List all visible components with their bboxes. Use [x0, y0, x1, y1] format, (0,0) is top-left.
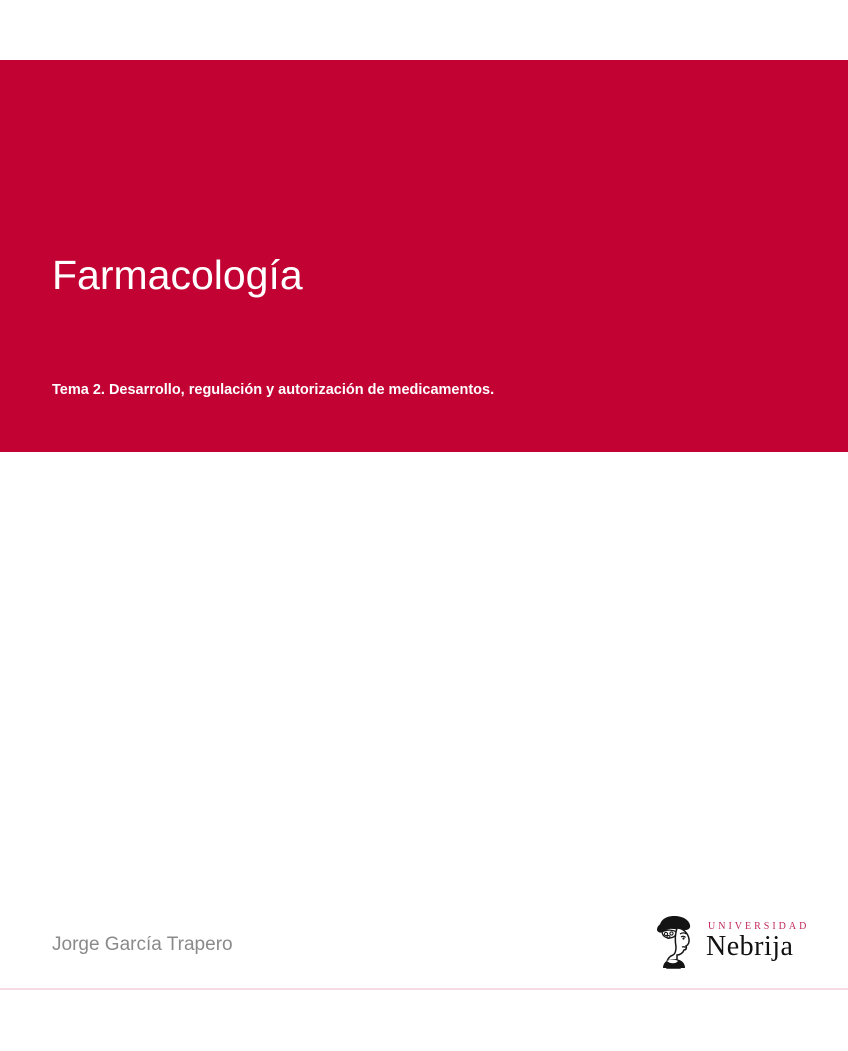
- slide-footer: Jorge García Trapero: [0, 452, 848, 599]
- top-white-margin: [0, 0, 848, 60]
- nebrija-wordmark: Universidad Nebrija: [706, 922, 809, 961]
- page-title: Farmacología: [52, 252, 303, 299]
- nebrija-scholar-profile-emblem-icon: [650, 913, 700, 971]
- slide-subtitle: Tema 2. Desarrollo, regulación y autoriz…: [52, 380, 572, 401]
- bottom-white-space: [0, 990, 848, 1051]
- logo-nebrija-text: Nebrija: [706, 932, 809, 961]
- nebrija-logo: Universidad Nebrija: [650, 912, 816, 972]
- title-banner: Farmacología Tema 2. Desarrollo, regulac…: [0, 60, 848, 452]
- logo-universidad-text: Universidad: [706, 922, 809, 932]
- presentation-slide: Farmacología Tema 2. Desarrollo, regulac…: [0, 0, 848, 599]
- author-name: Jorge García Trapero: [52, 934, 233, 956]
